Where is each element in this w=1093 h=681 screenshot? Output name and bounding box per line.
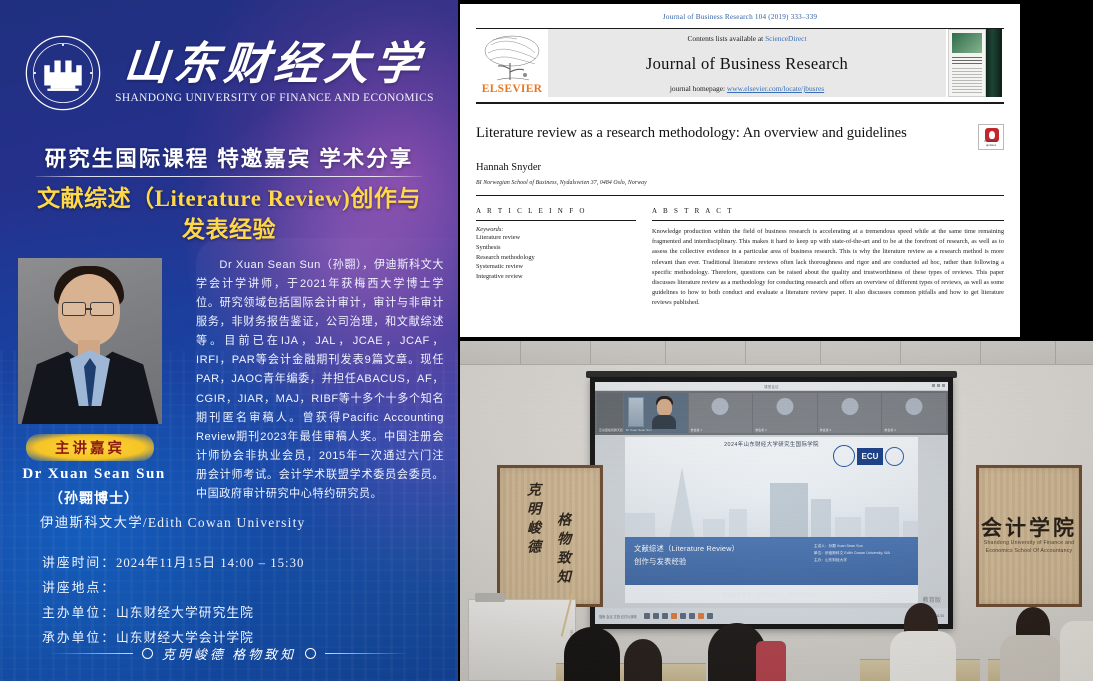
speaker-badge-label: 主讲嘉宾 — [55, 437, 125, 458]
screen-watermark: 教育版 — [922, 595, 941, 604]
footer-seal-right-icon — [305, 648, 316, 659]
lecture-hall-photo-panel: 课堂会议 互动面板和聊天窗口 Dr Xuan Sean Sun 参会者 1 — [460, 341, 1093, 681]
footer-rule-right — [325, 653, 409, 654]
slide-meta-host: 主办：山东财经大学 — [814, 557, 890, 564]
sciencedirect-link[interactable]: ScienceDirect — [765, 34, 806, 43]
keyword-item: Integrative review — [476, 272, 636, 282]
journal-homepage-line: journal homepage: www.elsevier.com/locat… — [670, 84, 824, 93]
detail-value-host: 山东财经大学会计学院 — [116, 630, 254, 645]
projector-screen-frame: 课堂会议 互动面板和聊天窗口 Dr Xuan Sean Sun 参会者 1 — [590, 377, 953, 629]
participant-name: 参会者 2 — [755, 428, 767, 432]
taskbar-app-icon[interactable] — [653, 613, 659, 619]
taskbar-app-icon[interactable] — [689, 613, 695, 619]
cover-front — [948, 29, 986, 97]
abstract-heading: A B S T R A C T — [652, 207, 1004, 215]
taskbar-app-icon[interactable] — [644, 613, 650, 619]
slide-meta-speaker: 主讲人：孙翾 Xuan Sean Sun — [814, 543, 890, 550]
taskbar-app-icon[interactable] — [707, 613, 713, 619]
participant-name: 互动面板和聊天窗口 — [599, 428, 623, 432]
poster-headline-line2: 发表经验 — [26, 215, 432, 246]
taskbar-app-icon[interactable] — [680, 613, 686, 619]
taskbar-app-icon[interactable] — [671, 613, 677, 619]
audience-silhouette — [564, 627, 620, 681]
detail-label-time: 讲座时间： — [42, 555, 116, 570]
article-title: Literature review as a research methodol… — [476, 124, 970, 142]
detail-value-time: 2024年11月15日 14:00 – 15:30 — [116, 556, 304, 570]
speaker-badge: 主讲嘉宾 — [26, 434, 154, 461]
taskbar-app-icon[interactable] — [662, 613, 668, 619]
participant-tile[interactable]: 参会者 1 — [689, 393, 753, 433]
journal-cover-thumbnail — [948, 29, 1004, 97]
detail-label-venue: 讲座地点： — [42, 580, 116, 595]
audience-silhouette — [756, 641, 786, 681]
participant-thumbnail-strip: 互动面板和聊天窗口 Dr Xuan Sean Sun 参会者 1 参会者 2 — [595, 391, 948, 435]
university-name-en: SHANDONG UNIVERSITY OF FINANCE AND ECONO… — [115, 92, 434, 104]
slide-logo-group: ECU — [833, 445, 904, 467]
detail-row-time: 讲座时间：2024年11月15日 14:00 – 15:30 — [42, 551, 442, 576]
contents-prefix: Contents lists available at — [687, 34, 765, 43]
participant-name: 参会者 4 — [884, 428, 896, 432]
detail-label-organizer: 主办单位： — [42, 605, 116, 620]
classroom-ceiling — [460, 341, 1093, 365]
journal-homepage-link[interactable]: www.elsevier.com/locate/jbusres — [727, 84, 824, 93]
poster-subtitle: 研究生国际课程 特邀嘉宾 学术分享 — [0, 142, 458, 173]
participant-name: 参会者 3 — [820, 428, 832, 432]
participant-tile[interactable]: 参会者 3 — [818, 393, 882, 433]
podium-laptop — [475, 593, 505, 602]
avatar — [906, 398, 923, 415]
speaker-affiliation: 伊迪斯科文大学/Edith Cowan University — [40, 511, 440, 531]
window-controls[interactable] — [932, 384, 945, 387]
audience-silhouette — [1060, 621, 1093, 681]
event-details-list: 讲座时间：2024年11月15日 14:00 – 15:30 讲座地点： 主办单… — [42, 551, 442, 651]
footer-seal-left-icon — [142, 648, 153, 659]
journal-masthead: ELSEVIER Contents lists available at Sci… — [476, 29, 1004, 97]
participant-tile[interactable]: 互动面板和聊天窗口 — [597, 393, 623, 433]
homepage-prefix: journal homepage: — [670, 84, 727, 93]
audience-silhouette — [1000, 635, 1062, 681]
poster-headline-line1: 文献综述（Literature Review)创作与 — [26, 184, 432, 215]
crossmark-label: Check for updates — [979, 140, 1003, 147]
keyword-item: Research methodology — [476, 253, 636, 263]
participant-tile-speaker[interactable]: Dr Xuan Sean Sun — [624, 393, 688, 433]
speaker-bio: Dr Xuan Sean Sun（孙翾），伊迪斯科文大学会计学讲师，于2021年… — [196, 256, 444, 504]
university-emblem-icon — [24, 34, 102, 112]
slide-title-line1: 文献综述（Literature Review） — [634, 544, 739, 554]
keyword-item: Literature review — [476, 233, 636, 243]
speaker-name-en: Dr Xuan Sean Sun — [0, 466, 188, 483]
journal-banner: Contents lists available at ScienceDirec… — [548, 29, 946, 97]
abstract-column: A B S T R A C T Knowledge production wit… — [652, 207, 1004, 308]
presentation-slide: 2024年山东财经大学研究生国际学院 ECU 文献综述（Literature R… — [625, 437, 918, 603]
university-name-cn: 山东财经大学 — [122, 42, 426, 88]
article-info-column: A R T I C L E I N F O Keywords: Literatu… — [476, 207, 636, 308]
journal-article-panel: Journal of Business Research 104 (2019) … — [460, 4, 1020, 337]
masthead-bottom-rule — [476, 102, 1004, 104]
elsevier-wordmark: ELSEVIER — [482, 83, 543, 95]
article-info-abstract-columns: A R T I C L E I N F O Keywords: Literatu… — [476, 207, 1004, 308]
taskbar-app-icon[interactable] — [698, 613, 704, 619]
avatar — [841, 398, 858, 415]
university-name-block: 山东财经大学 SHANDONG UNIVERSITY OF FINANCE AN… — [115, 42, 434, 105]
speaker-name-cn: （孙翾博士） — [0, 488, 188, 508]
keywords-label: Keywords: — [476, 226, 636, 233]
minimize-icon — [932, 384, 935, 387]
maximize-icon — [937, 384, 940, 387]
crossmark-check-for-updates-icon[interactable]: Check for updates — [978, 124, 1004, 150]
elsevier-logo: ELSEVIER — [476, 29, 548, 97]
keyword-item: Systematic review — [476, 262, 636, 272]
poster-headline: 文献综述（Literature Review)创作与 发表经验 — [26, 184, 432, 246]
taskbar-left-text: 搜索 会议 文档 幻灯片放映 — [599, 614, 637, 619]
slide-tagline: 经验分享 交流 · 论文写作方法 · 期刊投稿指南！ — [625, 592, 918, 598]
poster-footer: 克明峻德 格物致知 — [0, 644, 458, 663]
slide-title-line2: 创作与发表经验 — [634, 557, 686, 567]
article-header-rule — [476, 195, 1004, 196]
footer-rule-left — [49, 653, 133, 654]
article-info-heading: A R T I C L E I N F O — [476, 207, 636, 215]
wall-plaque-school: 会计学院 Shandong University of Finance and … — [976, 465, 1082, 607]
plaque-calligraphy-col2: 格物致知 — [552, 512, 572, 588]
slide-title-band: 文献综述（Literature Review） 创作与发表经验 主讲人：孙翾 X… — [625, 537, 918, 585]
poster-divider — [36, 176, 422, 177]
composite-screenshot: 山东财经大学 SHANDONG UNIVERSITY OF FINANCE AN… — [0, 0, 1093, 681]
article-info-rule — [476, 220, 636, 221]
ecu-logo: ECU — [857, 448, 883, 465]
journal-running-head: Journal of Business Research 104 (2019) … — [460, 4, 1020, 21]
detail-row-venue: 讲座地点： — [42, 576, 442, 601]
participant-name: Dr Xuan Sean Sun — [626, 428, 652, 432]
detail-label-host: 承办单位： — [42, 630, 116, 645]
podium-label: 讲台控制台 — [469, 630, 575, 648]
keyword-item: Synthesis — [476, 243, 636, 253]
close-icon — [942, 384, 945, 387]
abstract-text: Knowledge production within the field of… — [652, 227, 1004, 308]
wall-plaque-motto: 克明峻德 格物致知 — [497, 465, 603, 607]
audience-silhouette — [890, 631, 956, 681]
article-author: Hannah Snyder — [476, 162, 1004, 173]
audience-silhouette — [624, 639, 662, 681]
participant-tile[interactable]: 参会者 4 — [882, 393, 946, 433]
avatar — [712, 398, 729, 415]
os-taskbar[interactable]: 搜索 会议 文档 幻灯片放映 14:26 2024/11/15 — [595, 608, 948, 624]
plaque-school-cn: 会计学院 — [979, 512, 1079, 542]
plaque-calligraphy-col1: 克明峻德 — [522, 482, 542, 558]
detail-row-organizer: 主办单位：山东财经大学研究生院 — [42, 601, 442, 626]
detail-value-organizer: 山东财经大学研究生院 — [116, 605, 254, 620]
slide-meta-affiliation: 单位：伊迪斯科文 Edith Cowan University, WA — [814, 550, 890, 557]
sdufe-logo-icon — [833, 445, 855, 467]
participant-name: 参会者 1 — [691, 428, 703, 432]
poster-logo-row: 山东财经大学 SHANDONG UNIVERSITY OF FINANCE AN… — [0, 34, 458, 112]
article-title-row: Literature review as a research methodol… — [476, 124, 1004, 150]
participant-tile[interactable]: 参会者 2 — [753, 393, 817, 433]
projected-screen-content: 课堂会议 互动面板和聊天窗口 Dr Xuan Sean Sun 参会者 1 — [595, 382, 948, 624]
meeting-window-title: 课堂会议 — [764, 384, 779, 389]
partner-logo-icon — [885, 447, 904, 466]
journal-title: Journal of Business Research — [646, 54, 848, 74]
cover-spine — [986, 29, 1002, 97]
meeting-window-titlebar: 课堂会议 — [595, 382, 948, 391]
plaque-school-en: Shandong University of Finance and Econo… — [981, 540, 1077, 556]
footer-motto: 克明峻德 格物致知 — [162, 644, 296, 663]
slide-meta: 主讲人：孙翾 Xuan Sean Sun 单位：伊迪斯科文 Edith Cowa… — [814, 543, 890, 564]
speaker-portrait-photo — [18, 258, 162, 424]
avatar — [776, 398, 793, 415]
event-poster-panel: 山东财经大学 SHANDONG UNIVERSITY OF FINANCE AN… — [0, 0, 458, 681]
elsevier-tree-icon — [481, 33, 543, 83]
abstract-rule — [652, 220, 1004, 221]
contents-line: Contents lists available at ScienceDirec… — [687, 34, 806, 43]
article-affiliation: BI Norwegian School of Business, Nydalsv… — [476, 180, 1004, 186]
